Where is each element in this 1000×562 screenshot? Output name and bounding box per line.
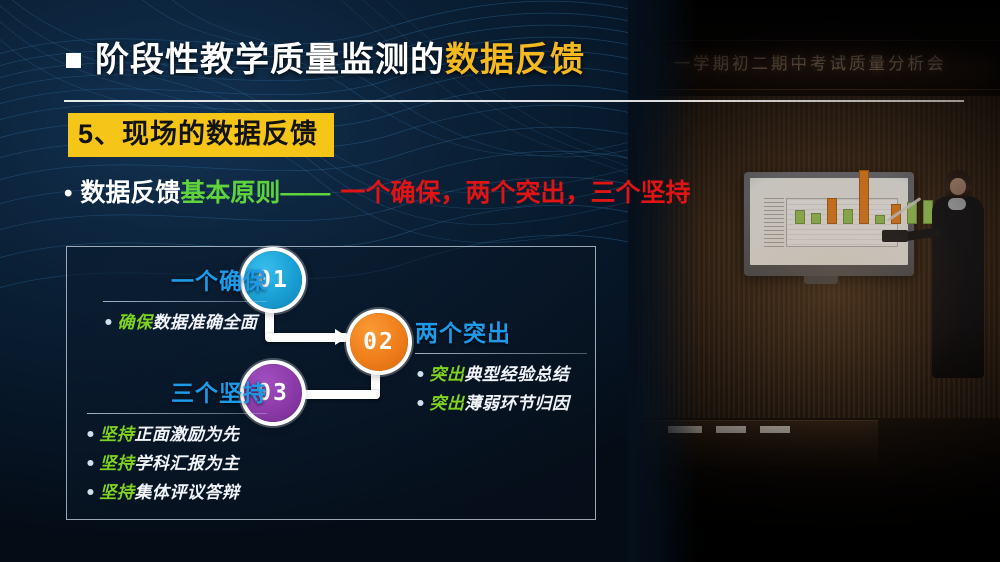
group-three-item: •坚持学科汇报为主 [79, 450, 267, 479]
header-divider [64, 100, 964, 102]
diagram-group-two: 两个突出 •突出典型经验总结 •突出薄弱环节归因 [415, 319, 587, 419]
group-two-item-rest: 典型经验总结 [464, 365, 569, 385]
group-three-item-emphasis: 坚持 [99, 425, 134, 445]
section-tag: 5、现场的数据反馈 [68, 113, 334, 157]
group-two-item-rest: 薄弱环节归因 [464, 394, 569, 414]
group-two-rule [415, 353, 587, 354]
list-bullet-icon: • [85, 483, 96, 503]
group-two-item: •突出薄弱环节归因 [415, 390, 587, 419]
list-bullet-icon: • [85, 454, 96, 474]
list-bullet-icon: • [415, 365, 426, 385]
subtitle-white: 数据反馈 [80, 179, 180, 207]
group-two-item-emphasis: 突出 [429, 365, 464, 385]
list-bullet-icon: • [415, 394, 426, 414]
group-two-heading: 两个突出 [415, 319, 587, 347]
subtitle-red: 一个确保，两个突出，三个坚持 [340, 179, 690, 207]
group-one-item: •确保数据准确全面 [87, 309, 267, 338]
page-title-white: 阶段性教学质量监测的 [95, 41, 445, 79]
diagram-node-02[interactable]: 02 [350, 313, 408, 371]
slide-canvas: 一学期初二期中考试质量分析会 [0, 0, 1000, 562]
page-title: 阶段性教学质量监测的数据反馈 [95, 38, 585, 82]
group-three-item-emphasis: 坚持 [99, 483, 134, 503]
diagram-group-one: 一个确保 •确保数据准确全面 [87, 267, 267, 338]
group-two-item: •突出典型经验总结 [415, 361, 587, 390]
group-three-item-emphasis: 坚持 [99, 454, 134, 474]
subtitle-bullet-icon: • [64, 180, 72, 207]
square-bullet-icon [66, 53, 81, 68]
subtitle-green: 基本原则—— [180, 179, 330, 207]
arrow-right-icon [335, 329, 348, 345]
diagram-node-02-number: 02 [363, 329, 395, 355]
group-three-heading: 三个坚持 [79, 379, 267, 407]
list-bullet-icon: • [85, 425, 96, 445]
group-one-rule [103, 301, 267, 302]
group-one-heading: 一个确保 [87, 267, 267, 295]
group-one-item-emphasis: 确保 [117, 313, 152, 333]
principle-subtitle: •数据反馈基本原则——一个确保，两个突出，三个坚持 [64, 176, 690, 211]
group-three-item-rest: 学科汇报为主 [134, 454, 239, 474]
group-three-item-rest: 集体评议答辩 [134, 483, 239, 503]
presentation-photo: 一学期初二期中考试质量分析会 [628, 0, 1000, 562]
page-title-gold: 数据反馈 [445, 41, 585, 79]
principles-diagram: 01 02 03 一个确保 •确保数据准确全面 两个突出 •突出典型经验总结 •… [66, 246, 596, 520]
group-one-item-rest: 数据准确全面 [152, 313, 257, 333]
group-two-item-emphasis: 突出 [429, 394, 464, 414]
photo-fade-left [628, 0, 698, 562]
group-three-item: •坚持集体评议答辩 [79, 479, 267, 508]
group-three-rule [87, 413, 267, 414]
group-three-item: •坚持正面激励为先 [79, 421, 267, 450]
diagram-group-three: 三个坚持 •坚持正面激励为先 •坚持学科汇报为主 •坚持集体评议答辩 [79, 379, 267, 508]
group-three-item-rest: 正面激励为先 [134, 425, 239, 445]
list-bullet-icon: • [103, 313, 114, 333]
